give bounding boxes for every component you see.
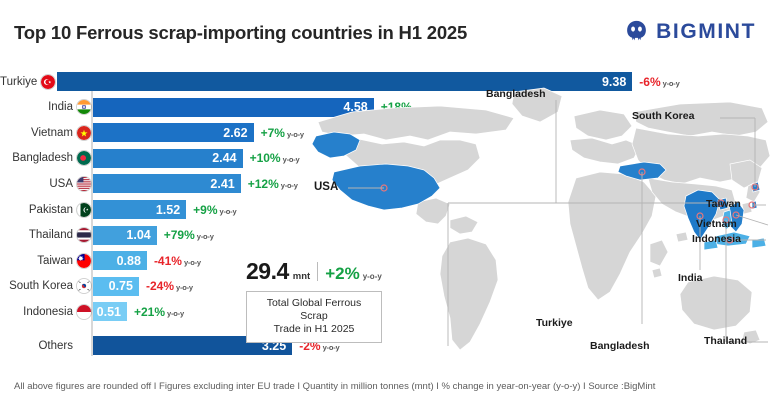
bar: 0.88 xyxy=(93,251,147,270)
no-flag-placeholder xyxy=(76,338,92,354)
yoy-change-label: +7%y-o-y xyxy=(261,126,304,140)
bar-container: 0.88-41%y-o-y xyxy=(93,251,201,270)
map-label-usa: USA xyxy=(314,181,338,193)
flag-india-icon xyxy=(76,99,92,115)
map-label-bangladesh-top: Bangladesh xyxy=(486,88,546,100)
map-label-vietnam: Vietnam xyxy=(696,218,737,230)
yoy-change-label: -41%y-o-y xyxy=(154,254,201,268)
bar-container: 1.52+9%y-o-y xyxy=(93,200,236,219)
bar-value-label: 2.44 xyxy=(212,151,236,165)
yoy-change-label: +79%y-o-y xyxy=(164,228,214,242)
country-label: USA xyxy=(0,178,74,190)
flag-indonesia-icon xyxy=(76,304,92,320)
yoy-change-label: +10%y-o-y xyxy=(250,151,300,165)
country-label: Thailand xyxy=(0,229,74,241)
brand-logo: BIGMINT xyxy=(624,19,756,44)
map-label-indonesia: Indonesia xyxy=(692,233,741,245)
yoy-suffix: y-o-y xyxy=(283,155,300,164)
bar: 2.41 xyxy=(93,174,241,193)
bar-value-label: 0.51 xyxy=(97,305,121,319)
yoy-suffix: y-o-y xyxy=(167,309,184,318)
yoy-value: +9% xyxy=(193,203,217,217)
bar-container: 2.62+7%y-o-y xyxy=(93,123,304,142)
yoy-suffix: y-o-y xyxy=(220,207,237,216)
yoy-value: -24% xyxy=(146,279,174,293)
map-label-thailand: Thailand xyxy=(704,335,747,347)
yoy-change-label: +9%y-o-y xyxy=(193,203,236,217)
bar-container: 1.04+79%y-o-y xyxy=(93,226,214,245)
flag-usa-icon xyxy=(76,176,92,192)
bar-value-label: 2.62 xyxy=(223,126,247,140)
bar: 0.51 xyxy=(93,302,127,321)
bar-container: 0.51+21%y-o-y xyxy=(93,302,184,321)
bar-value-label: 0.88 xyxy=(117,254,141,268)
country-label: Taiwan xyxy=(0,255,74,267)
yoy-value: +79% xyxy=(164,228,195,242)
country-label: Others xyxy=(0,340,74,352)
bigmint-mark-icon xyxy=(624,19,649,44)
total-number: 29.4 xyxy=(246,258,289,285)
yoy-change-label: -24%y-o-y xyxy=(146,279,193,293)
bar-value-label: 1.04 xyxy=(126,228,150,242)
bar: 2.44 xyxy=(93,149,243,168)
country-label: Bangladesh xyxy=(0,152,74,164)
map-label-turkiye: Turkiye xyxy=(536,317,573,329)
flag-south-korea-icon xyxy=(76,278,92,294)
country-label: Turkiye xyxy=(0,76,38,88)
map-country-indonesia-east xyxy=(752,238,766,248)
bar-value-label: 0.75 xyxy=(109,279,133,293)
brand-name: BIGMINT xyxy=(656,20,756,44)
map-label-india: India xyxy=(678,272,703,284)
yoy-value: +21% xyxy=(134,305,165,319)
country-label: Indonesia xyxy=(0,306,74,318)
yoy-value: +10% xyxy=(250,151,281,165)
bar-value-label: 2.41 xyxy=(210,177,234,191)
footnote: All above figures are rounded off I Figu… xyxy=(14,381,655,392)
yoy-suffix: y-o-y xyxy=(176,283,193,292)
country-label: South Korea xyxy=(0,280,74,292)
map-country-south-korea xyxy=(752,182,760,192)
bar-container: 2.44+10%y-o-y xyxy=(93,149,300,168)
bar-container: 0.75-24%y-o-y xyxy=(93,277,193,296)
flag-thailand-icon xyxy=(76,227,92,243)
yoy-value: +7% xyxy=(261,126,285,140)
country-label: India xyxy=(0,101,74,113)
world-map: Bangladesh South Korea USA Taiwan Vietna… xyxy=(300,74,770,364)
flag-taiwan-icon xyxy=(76,253,92,269)
country-label: Pakistan xyxy=(0,204,74,216)
yoy-value: -41% xyxy=(154,254,182,268)
yoy-suffix: y-o-y xyxy=(281,181,298,190)
flag-turkiye-icon xyxy=(40,74,56,90)
flag-bangladesh-icon xyxy=(76,150,92,166)
bar: 1.04 xyxy=(93,226,157,245)
header: Top 10 Ferrous scrap-importing countries… xyxy=(0,0,770,62)
flag-vietnam-icon xyxy=(76,125,92,141)
bar-container: 2.41+12%y-o-y xyxy=(93,174,298,193)
page-title: Top 10 Ferrous scrap-importing countries… xyxy=(14,22,467,44)
flag-pakistan-icon xyxy=(76,202,92,218)
map-label-taiwan: Taiwan xyxy=(706,198,741,210)
yoy-suffix: y-o-y xyxy=(184,258,201,267)
yoy-change-label: +21%y-o-y xyxy=(134,305,184,319)
map-label-bangladesh-bottom: Bangladesh xyxy=(590,340,650,352)
bar: 0.75 xyxy=(93,277,139,296)
yoy-value: +12% xyxy=(248,177,279,191)
yoy-change-label: +12%y-o-y xyxy=(248,177,298,191)
bar: 1.52 xyxy=(93,200,186,219)
yoy-suffix: y-o-y xyxy=(197,232,214,241)
country-label: Vietnam xyxy=(0,127,74,139)
bar: 2.62 xyxy=(93,123,254,142)
map-label-south-korea: South Korea xyxy=(632,110,694,122)
bar-value-label: 1.52 xyxy=(156,203,180,217)
